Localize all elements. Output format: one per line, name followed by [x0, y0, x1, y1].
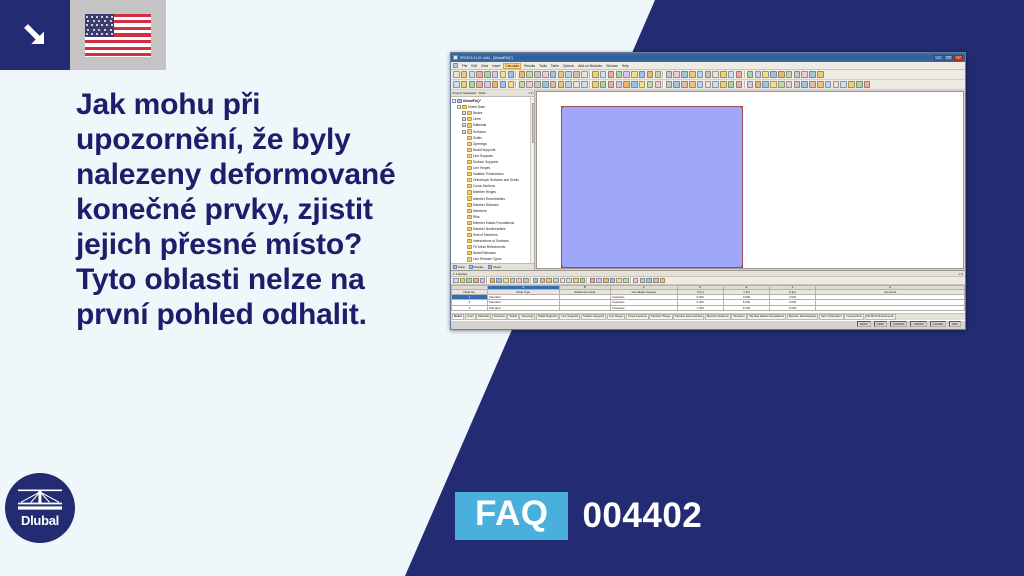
toolbar-button-icon[interactable] [720, 81, 727, 88]
toolbar-button-icon[interactable] [755, 71, 762, 78]
toolbar-button-icon[interactable] [747, 81, 754, 88]
toolbar-button-icon[interactable] [762, 81, 769, 88]
toolbar-button-icon[interactable] [469, 81, 476, 88]
menu-item-calculate[interactable]: Calculate [504, 64, 520, 68]
logo-wordmark: Dlubal [21, 513, 59, 528]
table-toolbar-button-icon[interactable] [460, 278, 466, 284]
cell-reference-node[interactable] [559, 305, 610, 310]
toolbar-button-icon[interactable] [864, 81, 871, 88]
minimize-button[interactable]: — [934, 55, 943, 61]
menu-item-tools[interactable]: Tools [539, 64, 547, 68]
tree-item-label: FE Mesh Refinements [473, 245, 505, 249]
tree-item-label: Nodal Supports [473, 148, 495, 152]
menu-item-addon-modules[interactable]: Add-on Modules [578, 64, 602, 68]
toolbar-button-icon[interactable] [697, 71, 704, 78]
table-toolbar-button-icon[interactable] [540, 278, 546, 284]
tree-expander-icon[interactable]: - [452, 99, 456, 103]
cell-node-no[interactable]: 3 [452, 305, 488, 310]
close-button[interactable]: ✕ [954, 55, 963, 61]
tree-item-label: Openings [473, 142, 487, 146]
toolbar-separator [530, 277, 532, 284]
toolbar-button-icon[interactable] [534, 71, 541, 78]
tree-folder-icon [467, 166, 472, 170]
table-tab-line-hinges[interactable]: Line Hinges [607, 314, 626, 320]
rfem-application-window: RFEM 5.21.01 xx64 - [DlubalFAQ*] — ❐ ✕ F… [450, 52, 966, 330]
toolbar-separator [589, 81, 591, 88]
toolbar-button-icon[interactable] [592, 81, 599, 88]
tree-folder-icon [467, 257, 472, 261]
toolbar-button-icon[interactable] [492, 81, 499, 88]
toolbar-button-icon[interactable] [809, 71, 816, 78]
table-header: A B C D E F G Node No. Node Type Referen… [452, 286, 965, 295]
faq-badge: FAQ 004402 [455, 492, 702, 540]
table-toolbar-button-icon[interactable] [503, 278, 509, 284]
table-tab-sets-of-members[interactable]: Sets of Members [819, 314, 844, 320]
status-toggle-osnap[interactable]: OSNAP [910, 321, 926, 327]
toolbar-button-icon[interactable] [720, 71, 727, 78]
toolbar-button-icon[interactable] [755, 81, 762, 88]
table-toolbar-button-icon[interactable] [653, 278, 659, 284]
status-toggle-grid[interactable]: GRID [874, 321, 887, 327]
toolbar-separator [515, 81, 517, 88]
table-tab-materials[interactable]: Materials [476, 314, 491, 320]
tree-item-label: Member Hinges [473, 190, 496, 194]
table-body[interactable]: 1StandardCartesian0.0000.0000.0002Standa… [452, 295, 965, 311]
data-table-panel: 1.1 Nodes × ▾ A B C [451, 270, 965, 320]
table-toolbar-button-icon[interactable] [580, 278, 586, 284]
tree-expander-icon[interactable]: - [457, 105, 461, 109]
table-toolbar-button-icon[interactable] [466, 278, 472, 284]
tree-folder-icon [467, 251, 472, 255]
toolbar-button-icon[interactable] [705, 81, 712, 88]
tree-item-label: Nodes [473, 111, 482, 115]
rfem-app-icon [453, 55, 458, 60]
tree-item-label: Members [473, 209, 487, 213]
toolbar-button-icon[interactable] [565, 71, 572, 78]
table-tab-members[interactable]: Members [731, 314, 746, 320]
toolbar-button-icon[interactable] [801, 81, 808, 88]
table-toolbar[interactable] [451, 277, 965, 285]
tree-folder-icon [467, 245, 472, 249]
model-surface[interactable] [561, 106, 743, 268]
tree-folder-icon [467, 142, 472, 146]
tree-folder-icon [467, 117, 472, 121]
tree-item-label: Materials [473, 123, 486, 127]
table-toolbar-button-icon[interactable] [546, 278, 552, 284]
table-tab-surface-supports[interactable]: Surface Supports [581, 314, 606, 320]
toolbar-button-icon[interactable] [526, 71, 533, 78]
toolbar-button-icon[interactable] [712, 81, 719, 88]
menu-item-view[interactable]: View [481, 64, 488, 68]
toolbar-button-icon[interactable] [453, 71, 460, 78]
node-marker[interactable] [741, 106, 743, 108]
table-toolbar-button-icon[interactable] [623, 278, 629, 284]
toolbar-separator [744, 81, 746, 88]
toolbar-button-icon[interactable] [689, 71, 696, 78]
tree-item-label: Member Divisions [473, 203, 499, 207]
table-tab-member-divisions[interactable]: Member Divisions [705, 314, 731, 320]
navigator-tab-data[interactable]: Data [453, 265, 465, 269]
table-toolbar-button-icon[interactable] [490, 278, 496, 284]
status-toggle-cartes[interactable]: CARTES [890, 321, 908, 327]
tree-folder-icon [467, 184, 472, 188]
toolbar-button-icon[interactable] [508, 71, 515, 78]
toolbar-button-icon[interactable] [550, 71, 557, 78]
toolbar-button-icon[interactable] [762, 71, 769, 78]
toolbar-button-icon[interactable] [542, 81, 549, 88]
nodes-table[interactable]: A B C D E F G Node No. Node Type Referen… [451, 285, 965, 313]
toolbar-button-icon[interactable] [666, 71, 673, 78]
navigator-tabs[interactable]: Data Display Views [451, 263, 534, 270]
tree-expander-icon[interactable]: + [462, 111, 466, 115]
tree-folder-icon [462, 105, 467, 109]
table-toolbar-button-icon[interactable] [523, 278, 529, 284]
toolbar-separator [662, 81, 664, 88]
node-marker[interactable] [561, 106, 563, 108]
tree-folder-icon [467, 196, 472, 200]
tree-folder-icon [467, 221, 472, 225]
tree-folder-icon [467, 178, 472, 182]
secondary-toolbar[interactable] [451, 80, 965, 90]
toolbar-button-icon[interactable] [736, 81, 743, 88]
toolbar-button-icon[interactable] [616, 71, 623, 78]
display-tab-icon [469, 265, 473, 269]
cell-node-type[interactable]: Standard [487, 305, 559, 310]
toolbar-button-icon[interactable] [655, 71, 662, 78]
table-tab-surfaces[interactable]: Surfaces [492, 314, 507, 320]
toolbar-button-icon[interactable] [461, 81, 468, 88]
tree-item-label: Member Elastic Foundations [473, 221, 514, 225]
toolbar-button-icon[interactable] [778, 81, 785, 88]
tree-folder-icon [467, 203, 472, 207]
table-toolbar-button-icon[interactable] [646, 278, 652, 284]
tree-item-label: Surfaces [473, 130, 486, 134]
navigator-tab-views[interactable]: Views [488, 265, 501, 269]
table-toolbar-button-icon[interactable] [533, 278, 539, 284]
truss-bridge-icon [18, 489, 62, 511]
toolbar-button-icon[interactable] [550, 81, 557, 88]
table-toolbar-button-icon[interactable] [660, 278, 666, 284]
window-title: RFEM 5.21.01 xx64 - [DlubalFAQ*] [460, 56, 513, 60]
tree-folder-icon [467, 209, 472, 213]
tree-folder-icon [467, 215, 472, 219]
toolbar-button-icon[interactable] [631, 71, 638, 78]
window-controls[interactable]: — ❐ ✕ [934, 55, 963, 61]
toolbar-button-icon[interactable] [453, 81, 460, 88]
navigator-scrollbar[interactable] [530, 97, 534, 263]
model-viewport[interactable] [536, 91, 964, 269]
toolbar-button-icon[interactable] [469, 71, 476, 78]
toolbar-button-icon[interactable] [573, 81, 580, 88]
toolbar-button-icon[interactable] [558, 71, 565, 78]
toolbar-button-icon[interactable] [689, 81, 696, 88]
toolbar-button-icon[interactable] [526, 81, 533, 88]
data-tab-icon [453, 265, 457, 269]
table-tab-nodes[interactable]: Nodes [452, 314, 464, 320]
tree-item-label: DlubalFAQ* [463, 99, 481, 103]
table-tab-lines[interactable]: Lines [465, 314, 476, 320]
toolbar-separator [515, 71, 517, 78]
dlubal-logo: Dlubal [5, 473, 75, 543]
toolbar-button-icon[interactable] [681, 71, 688, 78]
cell-z[interactable]: 0.000 [770, 305, 816, 310]
tree-item-label: Ribs [473, 215, 480, 219]
toolbar-button-icon[interactable] [673, 81, 680, 88]
menu-item-results[interactable]: Results [524, 64, 535, 68]
toolbar-button-icon[interactable] [786, 81, 793, 88]
toolbar-separator [630, 277, 632, 284]
toolbar-button-icon[interactable] [697, 81, 704, 88]
table-tab-fe-mesh-refinements[interactable]: FE Mesh Refinements [865, 314, 896, 320]
table-toolbar-button-icon[interactable] [560, 278, 566, 284]
table-title: 1.1 Nodes [453, 272, 467, 276]
toolbar-button-icon[interactable] [778, 71, 785, 78]
tree-item-label: Intersections of Surfaces [473, 239, 509, 243]
table-toolbar-button-icon[interactable] [610, 278, 616, 284]
toolbar-button-icon[interactable] [747, 71, 754, 78]
toolbar-button-icon[interactable] [848, 81, 855, 88]
toolbar-button-icon[interactable] [794, 81, 801, 88]
window-titlebar[interactable]: RFEM 5.21.01 xx64 - [DlubalFAQ*] — ❐ ✕ [451, 53, 965, 62]
table-toolbar-button-icon[interactable] [573, 278, 579, 284]
table-toolbar-button-icon[interactable] [640, 278, 646, 284]
table-toolbar-button-icon[interactable] [596, 278, 602, 284]
status-toggle-snap[interactable]: SNAP [857, 321, 871, 327]
toolbar-button-icon[interactable] [476, 81, 483, 88]
tree-item-label: Variable Thicknesses [473, 172, 504, 176]
work-area: Project Navigator - Data × ▾ -DlubalFAQ*… [451, 90, 965, 270]
toolbar-button-icon[interactable] [728, 71, 735, 78]
table-toolbar-button-icon[interactable] [566, 278, 572, 284]
toolbar-button-icon[interactable] [542, 71, 549, 78]
node-marker[interactable] [741, 266, 743, 268]
table-tab-member-elastic-foundations[interactable]: Member Elastic Foundations [747, 314, 786, 320]
table-toolbar-button-icon[interactable] [553, 278, 559, 284]
menu-item-table[interactable]: Table [551, 64, 559, 68]
toolbar-button-icon[interactable] [461, 71, 468, 78]
tree-item-label: Cross-Sections [473, 184, 495, 188]
tree-expander-icon[interactable]: + [462, 117, 466, 121]
toolbar-button-icon[interactable] [573, 71, 580, 78]
tree-folder-icon [467, 239, 472, 243]
table-toolbar-button-icon[interactable] [480, 278, 486, 284]
table-toolbar-button-icon[interactable] [590, 278, 596, 284]
toolbar-button-icon[interactable] [608, 71, 615, 78]
toolbar-button-icon[interactable] [492, 71, 499, 78]
tree-item-label: Member Eccentricities [473, 197, 505, 201]
node-marker[interactable] [561, 266, 563, 268]
menu-item-help[interactable]: Help [622, 64, 629, 68]
toolbar-button-icon[interactable] [600, 81, 607, 88]
status-toggle-glines[interactable]: GLINES [930, 321, 947, 327]
tree-item-label: Line Supports [473, 154, 493, 158]
document-icon [453, 63, 458, 68]
views-tab-icon [488, 265, 492, 269]
cell-y[interactable]: 5.000 [723, 305, 769, 310]
tree-folder-icon [467, 136, 472, 140]
toolbar-button-icon[interactable] [666, 81, 673, 88]
table-tab-member-hinges[interactable]: Member Hinges [649, 314, 672, 320]
table-tab-member-eccentricities[interactable]: Member Eccentricities [673, 314, 704, 320]
tree-item-label: Line Release Types [473, 257, 502, 261]
toolbar-button-icon[interactable] [558, 81, 565, 88]
status-toggle-dxf[interactable]: DXF [949, 321, 961, 327]
tree-item-label: Solids [473, 136, 482, 140]
toolbar-button-icon[interactable] [581, 71, 588, 78]
table-toolbar-button-icon[interactable] [633, 278, 639, 284]
toolbar-button-icon[interactable] [600, 71, 607, 78]
table-tab-nodal-supports[interactable]: Nodal Supports [536, 314, 559, 320]
arrow-down-right-icon [18, 18, 52, 52]
tree-item-label: Lines [473, 117, 481, 121]
toolbar-button-icon[interactable] [840, 81, 847, 88]
toolbar-button-icon[interactable] [484, 71, 491, 78]
scrollbar-thumb[interactable] [532, 103, 535, 143]
menu-item-edit[interactable]: Edit [471, 64, 477, 68]
tree-item-label: Sets of Members [473, 233, 498, 237]
toolbar-button-icon[interactable] [631, 81, 638, 88]
toolbar-button-icon[interactable] [770, 81, 777, 88]
tree-folder-icon [467, 172, 472, 176]
navigator-tree[interactable]: -DlubalFAQ*-Model Data+Nodes+Lines+Mater… [451, 97, 534, 263]
toolbar-button-icon[interactable] [565, 81, 572, 88]
navigator-close-icon[interactable]: × ▾ [528, 91, 532, 95]
tree-folder-icon [467, 227, 472, 231]
toolbar-button-icon[interactable] [519, 81, 526, 88]
menu-item-options[interactable]: Options [563, 64, 574, 68]
table-tab-line-supports[interactable]: Line Supports [559, 314, 580, 320]
maximize-button[interactable]: ❐ [944, 55, 953, 61]
tree-folder-icon [467, 129, 472, 133]
table-tab-strip[interactable]: NodesLinesMaterialsSurfacesSolidsOpening… [451, 313, 965, 320]
page-title: Jak mohu při upozornění, že byly nalezen… [76, 88, 426, 333]
table-toolbar-button-icon[interactable] [603, 278, 609, 284]
table-toolbar-button-icon[interactable] [453, 278, 459, 284]
tree-folder-icon [467, 190, 472, 194]
tree-item-label: Surface Supports [473, 160, 498, 164]
toolbar-button-icon[interactable] [623, 81, 630, 88]
menu-item-file[interactable]: File [462, 64, 467, 68]
toolbar-button-icon[interactable] [647, 81, 654, 88]
slide-canvas: Jak mohu při upozornění, že byly nalezen… [0, 0, 1024, 576]
toolbar-button-icon[interactable] [500, 81, 507, 88]
table-close-icon[interactable]: × ▾ [959, 272, 963, 276]
toolbar-button-icon[interactable] [476, 71, 483, 78]
toolbar-button-icon[interactable] [728, 81, 735, 88]
toolbar-button-icon[interactable] [833, 81, 840, 88]
toolbar-button-icon[interactable] [681, 81, 688, 88]
toolbar-button-icon[interactable] [647, 71, 654, 78]
toolbar-button-icon[interactable] [592, 71, 599, 78]
toolbar-button-icon[interactable] [705, 71, 712, 78]
toolbar-button-icon[interactable] [519, 71, 526, 78]
tree-folder-icon [467, 123, 472, 127]
tree-expander-icon[interactable]: + [462, 130, 466, 134]
table-tab-openings[interactable]: Openings [519, 314, 535, 320]
toolbar-button-icon[interactable] [673, 71, 680, 78]
tree-folder-icon [467, 148, 472, 152]
table-toolbar-button-icon[interactable] [510, 278, 516, 284]
flag-canton [85, 14, 114, 37]
tree-item-label: Line Hinges [473, 166, 490, 170]
toolbar-separator [744, 71, 746, 78]
navigator-tab-display[interactable]: Display [469, 265, 484, 269]
toolbar-button-icon[interactable] [581, 81, 588, 88]
toolbar-button-icon[interactable] [817, 81, 824, 88]
toolbar-button-icon[interactable] [856, 81, 863, 88]
tree-expander-icon[interactable]: + [462, 123, 466, 127]
toolbar-button-icon[interactable] [655, 81, 662, 88]
table-tab-solids[interactable]: Solids [507, 314, 519, 320]
table-tab-intersections[interactable]: Intersections [844, 314, 864, 320]
toolbar-button-icon[interactable] [770, 71, 777, 78]
toolbar-button-icon[interactable] [508, 81, 515, 88]
table-toolbar-button-icon[interactable] [496, 278, 502, 284]
toolbar-button-icon[interactable] [712, 71, 719, 78]
table-tab-cross-sections[interactable]: Cross-Sections [626, 314, 649, 320]
status-bar[interactable]: SNAPGRIDCARTESOSNAPGLINESDXF [451, 320, 965, 327]
toolbar-button-icon[interactable] [616, 81, 623, 88]
cell-x[interactable]: 7.000 [677, 305, 723, 310]
tree-folder-icon [467, 154, 472, 158]
arrow-badge [0, 0, 70, 70]
tree-item-label: Nodal Releases [473, 251, 496, 255]
toolbar-button-icon[interactable] [801, 71, 808, 78]
tree-folder-icon [457, 99, 462, 103]
toolbar-separator [589, 71, 591, 78]
navigator-title: Project Navigator - Data [453, 91, 486, 95]
toolbar-button-icon[interactable] [484, 81, 491, 88]
toolbar-button-icon[interactable] [500, 71, 507, 78]
toolbar-button-icon[interactable] [794, 71, 801, 78]
tree-item-label: Orthotropic Surfaces and Shells [473, 178, 519, 182]
toolbar-separator [486, 277, 488, 284]
tree-item-label: Model Data [468, 105, 485, 109]
cell-coordinate-system[interactable]: Cartesian [611, 305, 678, 310]
toolbar-button-icon[interactable] [817, 71, 824, 78]
faq-chip-label: FAQ [455, 492, 568, 540]
table-toolbar-button-icon[interactable] [516, 278, 522, 284]
faq-number: 004402 [582, 496, 702, 536]
cell-comment[interactable] [816, 305, 965, 310]
toolbar-button-icon[interactable] [608, 81, 615, 88]
toolbar-button-icon[interactable] [736, 71, 743, 78]
table-toolbar-button-icon[interactable] [616, 278, 622, 284]
toolbar-button-icon[interactable] [623, 71, 630, 78]
tree-folder-icon [467, 160, 472, 164]
toolbar-button-icon[interactable] [809, 81, 816, 88]
project-navigator: Project Navigator - Data × ▾ -DlubalFAQ*… [451, 90, 535, 270]
toolbar-button-icon[interactable] [639, 81, 646, 88]
table-toolbar-button-icon[interactable] [473, 278, 479, 284]
toolbar-button-icon[interactable] [534, 81, 541, 88]
toolbar-button-icon[interactable] [786, 71, 793, 78]
navigator-header: Project Navigator - Data × ▾ [451, 90, 534, 97]
table-tab-member-nonlinearities[interactable]: Member Nonlinearities [787, 314, 819, 320]
toolbar-separator [586, 277, 588, 284]
country-flag-badge [70, 0, 166, 70]
tree-folder-icon [467, 233, 472, 237]
main-toolbar[interactable] [451, 70, 965, 80]
menu-item-window[interactable]: Window [606, 64, 618, 68]
table-row[interactable]: 3StandardCartesian7.0005.0000.000 [452, 305, 965, 310]
tree-folder-icon [467, 111, 472, 115]
toolbar-button-icon[interactable] [825, 81, 832, 88]
menu-bar[interactable]: File Edit View Insert Calculate Results … [451, 62, 965, 70]
tree-item-label: Member Nonlinearities [473, 227, 506, 231]
menu-item-insert[interactable]: Insert [492, 64, 500, 68]
toolbar-button-icon[interactable] [639, 71, 646, 78]
